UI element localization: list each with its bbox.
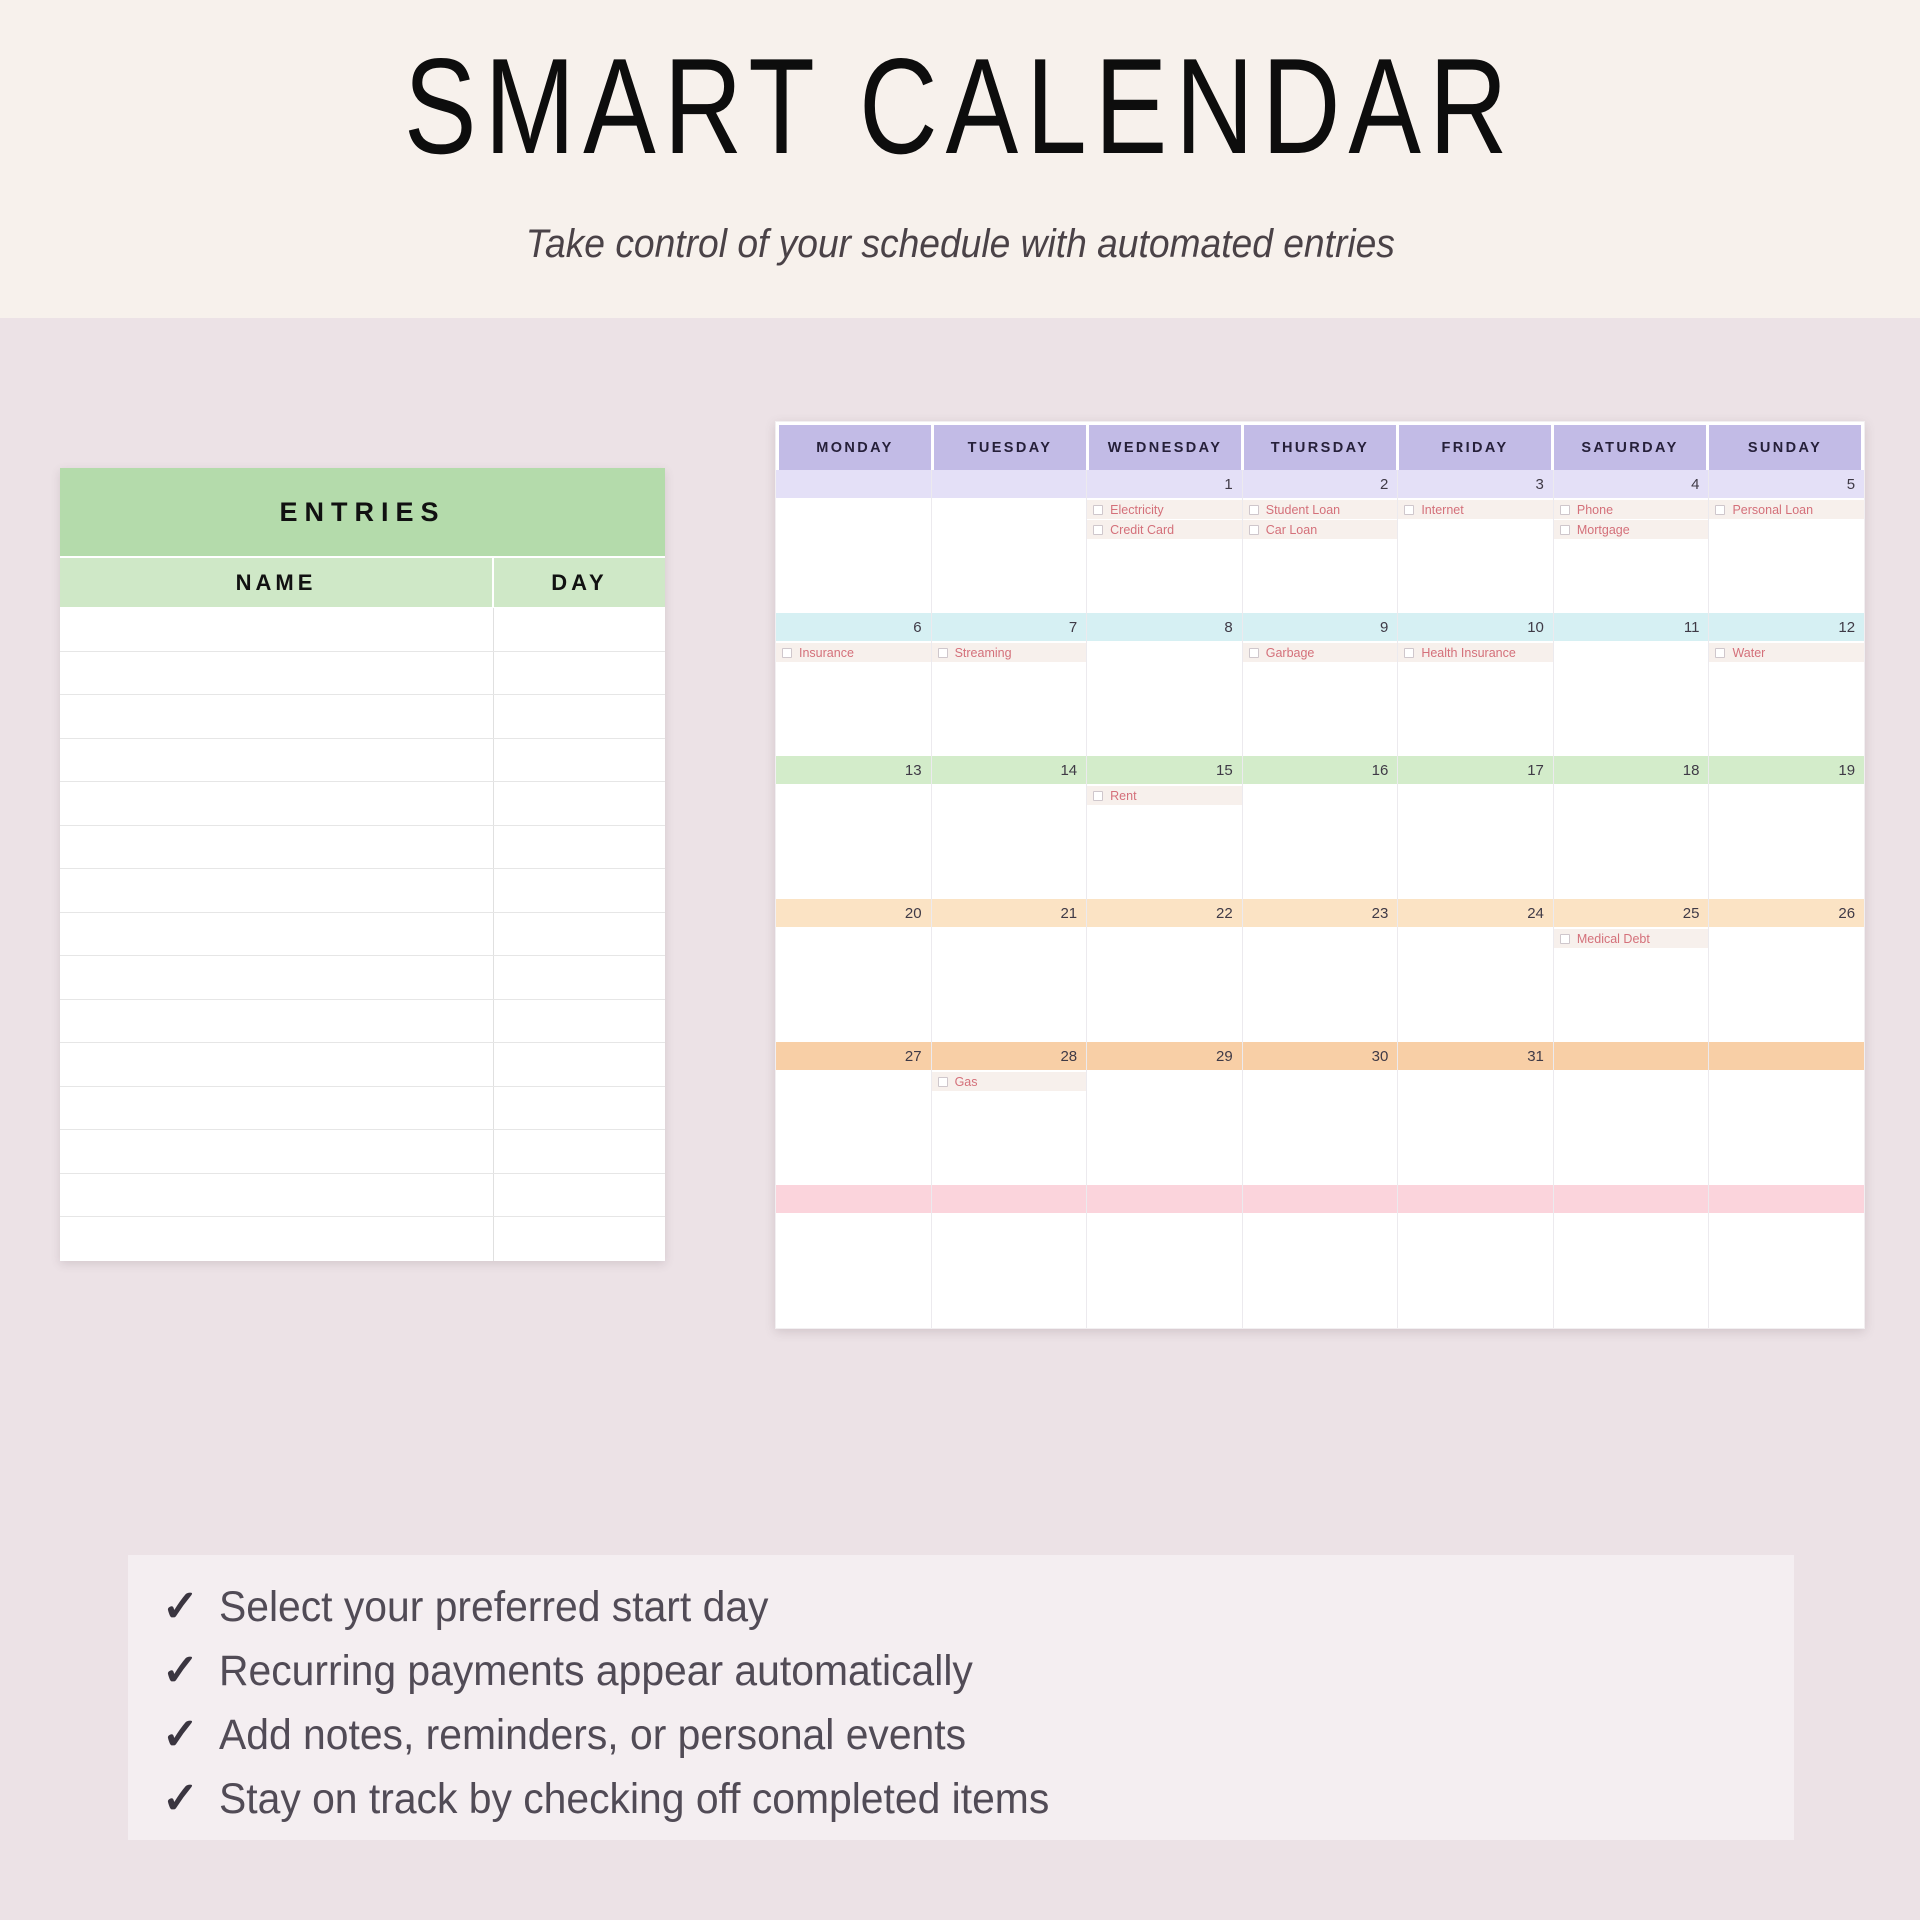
calendar-event[interactable]: Medical Debt [1554, 929, 1709, 948]
calendar-event-label: Garbage [1266, 646, 1315, 660]
calendar-day-events [776, 784, 931, 899]
column-header-name-label: NAME [236, 570, 317, 596]
calendar-day-number [932, 1185, 1087, 1213]
calendar-day-cell[interactable]: 13 [776, 756, 932, 899]
feature-item-label: Add notes, reminders, or personal events [219, 1711, 966, 1760]
calendar-event[interactable]: Mortgage [1554, 520, 1709, 539]
feature-item-label: Stay on track by checking off completed … [219, 1775, 1049, 1824]
calendar-event-label: Credit Card [1110, 523, 1174, 537]
calendar-day-number [1709, 1185, 1864, 1213]
calendar-event-label: Streaming [955, 646, 1012, 660]
checkbox-icon[interactable] [1249, 648, 1259, 658]
calendar-day-number: 24 [1398, 899, 1553, 927]
calendar-day-cell[interactable]: 16 [1243, 756, 1399, 899]
calendar-day-cell[interactable]: 29 [1087, 1042, 1243, 1185]
feature-item: ✓Select your preferred start day [162, 1583, 1794, 1647]
checkbox-icon[interactable] [1560, 505, 1570, 515]
calendar-day-cell[interactable] [1554, 1042, 1710, 1185]
calendar-day-cell[interactable]: 22 [1087, 899, 1243, 1042]
calendar-day-header-label: SATURDAY [1581, 440, 1678, 456]
column-header-name: NAME [60, 558, 494, 607]
calendar-day-cell[interactable] [776, 1185, 932, 1328]
entry-name-cell[interactable] [60, 869, 494, 912]
calendar-day-cell[interactable]: 9Garbage [1243, 613, 1399, 756]
calendar-event[interactable]: Streaming [932, 643, 1087, 662]
calendar-day-header-thursday: THURSDAY [1244, 425, 1396, 470]
calendar-day-header-friday: FRIDAY [1399, 425, 1551, 470]
calendar-day-events [1709, 1070, 1864, 1185]
calendar-day-cell[interactable]: 1ElectricityCredit Card [1087, 470, 1243, 613]
calendar-week-row [776, 1185, 1864, 1328]
page-header: SMART CALENDAR Take control of your sche… [0, 0, 1920, 318]
calendar-day-cell[interactable]: 7Streaming [932, 613, 1088, 756]
entry-day-cell[interactable] [494, 652, 665, 695]
calendar-day-header-label: MONDAY [816, 440, 894, 456]
calendar-day-cell[interactable]: 4PhoneMortgage [1554, 470, 1710, 613]
calendar-day-events: PhoneMortgage [1554, 498, 1709, 613]
calendar-day-number [1243, 1185, 1398, 1213]
calendar-day-cell[interactable]: 24 [1398, 899, 1554, 1042]
entry-day-cell[interactable] [494, 1217, 665, 1261]
calendar-day-events [1243, 927, 1398, 1042]
calendar-day-number: 18 [1554, 756, 1709, 784]
table-row[interactable] [60, 608, 665, 652]
calendar-event[interactable]: Insurance [776, 643, 931, 662]
calendar-day-events [1554, 784, 1709, 899]
calendar-day-cell[interactable]: 6Insurance [776, 613, 932, 756]
calendar-day-number: 25 [1554, 899, 1709, 927]
calendar-day-events: ElectricityCredit Card [1087, 498, 1242, 613]
calendar-day-cell[interactable]: 8 [1087, 613, 1243, 756]
calendar-day-number: 31 [1398, 1042, 1553, 1070]
checkbox-icon[interactable] [938, 648, 948, 658]
calendar-day-cell[interactable]: 2Student LoanCar Loan [1243, 470, 1399, 613]
entry-name-cell[interactable] [60, 826, 494, 869]
calendar-day-cell[interactable] [1087, 1185, 1243, 1328]
calendar-day-events [776, 1070, 931, 1185]
calendar-day-cell[interactable]: 10Health Insurance [1398, 613, 1554, 756]
calendar-day-number: 9 [1243, 613, 1398, 641]
entries-table-header-row: NAME DAY [60, 558, 665, 608]
calendar-day-events: Streaming [932, 641, 1087, 756]
calendar-day-cell[interactable]: 18 [1554, 756, 1710, 899]
calendar-day-cell[interactable]: 11 [1554, 613, 1710, 756]
column-header-day-label: DAY [551, 570, 607, 596]
entry-name-cell[interactable] [60, 1000, 494, 1043]
calendar-day-events [1398, 1213, 1553, 1328]
calendar-day-number: 6 [776, 613, 931, 641]
table-row[interactable] [60, 956, 665, 1000]
check-icon: ✓ [162, 1585, 199, 1629]
calendar-event-label: Internet [1421, 503, 1463, 517]
calendar-day-cell[interactable]: 20 [776, 899, 932, 1042]
calendar-day-cell[interactable] [1709, 1042, 1864, 1185]
table-row[interactable] [60, 652, 665, 696]
calendar-day-number: 8 [1087, 613, 1242, 641]
calendar-day-events [1243, 1070, 1398, 1185]
calendar-day-cell[interactable]: 15Rent [1087, 756, 1243, 899]
calendar-week-row: 6Insurance7Streaming89Garbage10Health In… [776, 613, 1864, 756]
calendar-day-events [1243, 1213, 1398, 1328]
entry-name-cell[interactable] [60, 1174, 494, 1217]
calendar-event-label: Student Loan [1266, 503, 1340, 517]
entries-table-title: ENTRIES [60, 468, 665, 558]
content-stage: ENTRIES NAME DAY MONDAYTUESDAYWEDNESDAYT… [0, 318, 1920, 1920]
column-header-day: DAY [494, 558, 665, 607]
calendar-day-header-row: MONDAYTUESDAYWEDNESDAYTHURSDAYFRIDAYSATU… [776, 422, 1864, 470]
calendar-day-events [1243, 784, 1398, 899]
calendar-day-cell[interactable]: 17 [1398, 756, 1554, 899]
checkbox-icon[interactable] [1560, 934, 1570, 944]
table-row[interactable] [60, 1174, 665, 1218]
calendar-day-cell[interactable] [1243, 1185, 1399, 1328]
calendar-day-number [1087, 1185, 1242, 1213]
calendar-event[interactable]: Rent [1087, 786, 1242, 805]
calendar-day-events [1087, 1213, 1242, 1328]
calendar-day-cell[interactable]: 3Internet [1398, 470, 1554, 613]
calendar-event-label: Mortgage [1577, 523, 1630, 537]
calendar-day-cell[interactable] [1554, 1185, 1710, 1328]
entries-table-body [60, 608, 665, 1261]
calendar-day-events [932, 1213, 1087, 1328]
entry-name-cell[interactable] [60, 608, 494, 651]
calendar-event-label: Gas [955, 1075, 978, 1089]
calendar-day-events [776, 1213, 931, 1328]
entry-day-cell[interactable] [494, 1130, 665, 1173]
calendar-event-label: Phone [1577, 503, 1613, 517]
entry-day-cell[interactable] [494, 1043, 665, 1086]
calendar-day-cell[interactable]: 28Gas [932, 1042, 1088, 1185]
entry-name-cell[interactable] [60, 782, 494, 825]
calendar-day-number: 17 [1398, 756, 1553, 784]
calendar-day-number: 22 [1087, 899, 1242, 927]
calendar-day-events [776, 498, 931, 613]
calendar-day-number: 3 [1398, 470, 1553, 498]
check-icon: ✓ [162, 1713, 199, 1757]
entry-name-cell[interactable] [60, 956, 494, 999]
calendar-event-label: Water [1732, 646, 1765, 660]
calendar-event[interactable]: Gas [932, 1072, 1087, 1091]
checkbox-icon[interactable] [938, 1077, 948, 1087]
calendar-event[interactable]: Electricity [1087, 500, 1242, 519]
calendar-day-cell[interactable] [932, 470, 1088, 613]
calendar-day-number [1709, 1042, 1864, 1070]
check-icon: ✓ [162, 1777, 199, 1821]
calendar-event-label: Insurance [799, 646, 854, 660]
page-subtitle: Take control of your schedule with autom… [525, 222, 1394, 267]
calendar-day-header-label: THURSDAY [1271, 440, 1369, 456]
calendar-day-number [776, 470, 931, 498]
checkbox-icon[interactable] [782, 648, 792, 658]
calendar-day-cell[interactable] [1709, 1185, 1864, 1328]
entry-day-cell[interactable] [494, 956, 665, 999]
checkbox-icon[interactable] [1715, 648, 1725, 658]
calendar-day-number [932, 470, 1087, 498]
calendar-day-cell[interactable]: 14 [932, 756, 1088, 899]
calendar-day-cell[interactable]: 21 [932, 899, 1088, 1042]
calendar-event[interactable]: Phone [1554, 500, 1709, 519]
calendar-day-number: 19 [1709, 756, 1864, 784]
checkbox-icon[interactable] [1249, 505, 1259, 515]
checkbox-icon[interactable] [1249, 525, 1259, 535]
calendar-day-events [1087, 1070, 1242, 1185]
entry-day-cell[interactable] [494, 1087, 665, 1130]
feature-item: ✓Recurring payments appear automatically [162, 1647, 1794, 1711]
table-row[interactable] [60, 695, 665, 739]
calendar-event[interactable]: Car Loan [1243, 520, 1398, 539]
entry-name-cell[interactable] [60, 652, 494, 695]
calendar-week-row: 2728Gas293031 [776, 1042, 1864, 1185]
feature-list: ✓Select your preferred start day✓Recurri… [128, 1555, 1794, 1840]
calendar-event[interactable]: Internet [1398, 500, 1553, 519]
calendar-day-header-label: WEDNESDAY [1108, 440, 1223, 456]
calendar-day-events [932, 498, 1087, 613]
calendar-day-events [1087, 927, 1242, 1042]
calendar-day-number: 10 [1398, 613, 1553, 641]
calendar-event[interactable]: Water [1709, 643, 1864, 662]
table-row[interactable] [60, 826, 665, 870]
checkbox-icon[interactable] [1560, 525, 1570, 535]
calendar-day-cell[interactable]: 12Water [1709, 613, 1864, 756]
table-row[interactable] [60, 1000, 665, 1044]
calendar-day-events: Gas [932, 1070, 1087, 1185]
calendar-day-events: Personal Loan [1709, 498, 1864, 613]
entry-name-cell[interactable] [60, 1217, 494, 1261]
feature-item: ✓Add notes, reminders, or personal event… [162, 1711, 1794, 1775]
entry-name-cell[interactable] [60, 1130, 494, 1173]
calendar-day-number: 29 [1087, 1042, 1242, 1070]
calendar-day-events [1398, 784, 1553, 899]
feature-item-label: Recurring payments appear automatically [219, 1647, 973, 1696]
calendar-week-row: 202122232425Medical Debt26 [776, 899, 1864, 1042]
calendar-event-label: Electricity [1110, 503, 1163, 517]
calendar-day-number: 23 [1243, 899, 1398, 927]
calendar-day-number: 15 [1087, 756, 1242, 784]
calendar-event-label: Health Insurance [1421, 646, 1516, 660]
calendar-day-number: 28 [932, 1042, 1087, 1070]
calendar-event-label: Car Loan [1266, 523, 1317, 537]
calendar-day-cell[interactable]: 26 [1709, 899, 1864, 1042]
calendar-day-cell[interactable] [776, 470, 932, 613]
calendar-day-events [1709, 784, 1864, 899]
calendar-day-cell[interactable]: 30 [1243, 1042, 1399, 1185]
calendar-event[interactable]: Personal Loan [1709, 500, 1864, 519]
entry-day-cell[interactable] [494, 695, 665, 738]
calendar-day-events: Water [1709, 641, 1864, 756]
calendar-day-number: 1 [1087, 470, 1242, 498]
table-row[interactable] [60, 869, 665, 913]
table-row[interactable] [60, 782, 665, 826]
calendar-week-row: 1ElectricityCredit Card2Student LoanCar … [776, 470, 1864, 613]
entry-name-cell[interactable] [60, 695, 494, 738]
calendar-event[interactable]: Credit Card [1087, 520, 1242, 539]
checkbox-icon[interactable] [1093, 505, 1103, 515]
calendar-day-number: 26 [1709, 899, 1864, 927]
checkbox-icon[interactable] [1404, 648, 1414, 658]
calendar-day-events: Health Insurance [1398, 641, 1553, 756]
checkbox-icon[interactable] [1715, 505, 1725, 515]
calendar-day-header-tuesday: TUESDAY [934, 425, 1086, 470]
entries-table: ENTRIES NAME DAY [60, 468, 665, 1261]
calendar-day-header-label: TUESDAY [968, 440, 1053, 456]
calendar-day-cell[interactable]: 25Medical Debt [1554, 899, 1710, 1042]
calendar-event[interactable]: Health Insurance [1398, 643, 1553, 662]
calendar-day-events [776, 927, 931, 1042]
calendar-day-number [1554, 1042, 1709, 1070]
calendar-day-events [1398, 927, 1553, 1042]
table-row[interactable] [60, 1130, 665, 1174]
check-icon: ✓ [162, 1649, 199, 1693]
calendar-day-number: 30 [1243, 1042, 1398, 1070]
entry-name-cell[interactable] [60, 1043, 494, 1086]
calendar-day-cell[interactable]: 19 [1709, 756, 1864, 899]
calendar-event-label: Rent [1110, 789, 1136, 803]
checkbox-icon[interactable] [1093, 791, 1103, 801]
calendar-day-cell[interactable]: 31 [1398, 1042, 1554, 1185]
calendar-day-events: Medical Debt [1554, 927, 1709, 1042]
calendar-day-number: 16 [1243, 756, 1398, 784]
calendar-day-events [1554, 641, 1709, 756]
calendar-event-label: Medical Debt [1577, 932, 1650, 946]
calendar-day-cell[interactable]: 5Personal Loan [1709, 470, 1864, 613]
calendar-day-header-label: SUNDAY [1748, 440, 1822, 456]
entry-name-cell[interactable] [60, 913, 494, 956]
calendar-day-header-label: FRIDAY [1441, 440, 1508, 456]
table-row[interactable] [60, 1087, 665, 1131]
entry-name-cell[interactable] [60, 739, 494, 782]
calendar-day-events: Internet [1398, 498, 1553, 613]
entry-day-cell[interactable] [494, 782, 665, 825]
calendar-day-events: Student LoanCar Loan [1243, 498, 1398, 613]
calendar-event[interactable]: Garbage [1243, 643, 1398, 662]
calendar-day-cell[interactable]: 27 [776, 1042, 932, 1185]
calendar-day-header-wednesday: WEDNESDAY [1089, 425, 1241, 470]
table-row[interactable] [60, 913, 665, 957]
calendar-day-header-saturday: SATURDAY [1554, 425, 1706, 470]
calendar-day-number: 20 [776, 899, 931, 927]
calendar-day-events [1709, 927, 1864, 1042]
calendar-day-number: 4 [1554, 470, 1709, 498]
calendar-event-label: Personal Loan [1732, 503, 1813, 517]
calendar-event[interactable]: Student Loan [1243, 500, 1398, 519]
calendar-day-number: 21 [932, 899, 1087, 927]
entry-day-cell[interactable] [494, 826, 665, 869]
feature-item-label: Select your preferred start day [219, 1583, 768, 1632]
feature-item: ✓Stay on track by checking off completed… [162, 1775, 1794, 1839]
calendar-day-number [776, 1185, 931, 1213]
calendar-day-events [1554, 1070, 1709, 1185]
calendar-day-events [1709, 1213, 1864, 1328]
entry-day-cell[interactable] [494, 608, 665, 651]
calendar-day-events [1398, 1070, 1553, 1185]
checkbox-icon[interactable] [1093, 525, 1103, 535]
calendar-day-events [932, 927, 1087, 1042]
calendar-week-row: 131415Rent16171819 [776, 756, 1864, 899]
calendar-day-number: 13 [776, 756, 931, 784]
entry-day-cell[interactable] [494, 739, 665, 782]
checkbox-icon[interactable] [1404, 505, 1414, 515]
calendar-day-events [1554, 1213, 1709, 1328]
calendar-day-number: 14 [932, 756, 1087, 784]
monthly-calendar: MONDAYTUESDAYWEDNESDAYTHURSDAYFRIDAYSATU… [775, 421, 1865, 1329]
calendar-day-number: 5 [1709, 470, 1864, 498]
calendar-day-events [1087, 641, 1242, 756]
entries-title-label: ENTRIES [279, 497, 445, 528]
entry-day-cell[interactable] [494, 1174, 665, 1217]
calendar-day-number: 7 [932, 613, 1087, 641]
calendar-day-events: Rent [1087, 784, 1242, 899]
calendar-day-cell[interactable] [1398, 1185, 1554, 1328]
table-row[interactable] [60, 1217, 665, 1261]
entry-name-cell[interactable] [60, 1087, 494, 1130]
calendar-day-number: 27 [776, 1042, 931, 1070]
entry-day-cell[interactable] [494, 913, 665, 956]
calendar-day-cell[interactable] [932, 1185, 1088, 1328]
calendar-day-cell[interactable]: 23 [1243, 899, 1399, 1042]
page-title: SMART CALENDAR [404, 38, 1516, 174]
calendar-day-number: 2 [1243, 470, 1398, 498]
calendar-day-events: Garbage [1243, 641, 1398, 756]
table-row[interactable] [60, 739, 665, 783]
calendar-day-events [932, 784, 1087, 899]
table-row[interactable] [60, 1043, 665, 1087]
calendar-day-number [1398, 1185, 1553, 1213]
calendar-day-number: 11 [1554, 613, 1709, 641]
calendar-weeks: 1ElectricityCredit Card2Student LoanCar … [776, 470, 1864, 1328]
calendar-day-header-sunday: SUNDAY [1709, 425, 1861, 470]
calendar-day-events: Insurance [776, 641, 931, 756]
calendar-day-header-monday: MONDAY [779, 425, 931, 470]
calendar-day-number: 12 [1709, 613, 1864, 641]
entry-day-cell[interactable] [494, 869, 665, 912]
calendar-day-number [1554, 1185, 1709, 1213]
entry-day-cell[interactable] [494, 1000, 665, 1043]
